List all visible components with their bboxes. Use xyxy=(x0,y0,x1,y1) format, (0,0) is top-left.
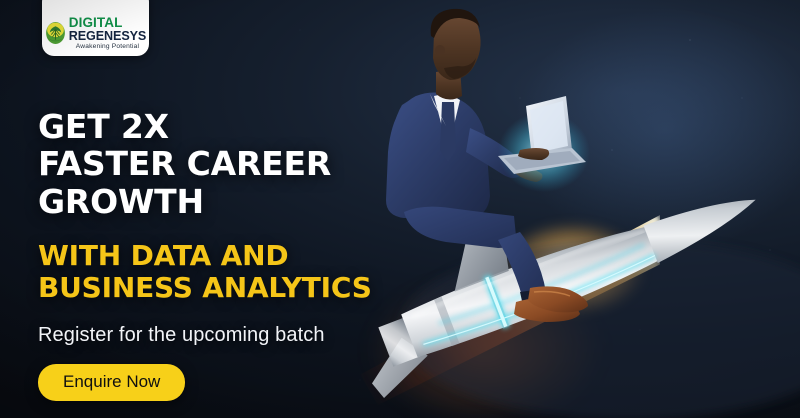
logo-text-primary: DIGITAL xyxy=(69,16,147,30)
laptop-graphic xyxy=(498,96,590,192)
promo-copy-block: GET 2X FASTER CAREER GROWTH WITH DATA AN… xyxy=(38,108,508,401)
subheadline: WITH DATA AND BUSINESS ANALYTICS xyxy=(38,240,508,305)
subheadline-line-1: WITH DATA AND xyxy=(38,240,508,272)
page-title: GET 2X FASTER CAREER GROWTH xyxy=(38,108,508,220)
body-text: Register for the upcoming batch xyxy=(38,324,508,347)
promo-banner: DIGITAL REGENESYS Awakening Potential GE… xyxy=(0,0,800,418)
tree-circle-icon xyxy=(45,21,66,45)
logo-tagline: Awakening Potential xyxy=(69,44,147,51)
subheadline-line-2: BUSINESS ANALYTICS xyxy=(38,272,508,304)
logo-text-secondary: REGENESYS xyxy=(69,30,147,43)
headline-line-1: GET 2X xyxy=(38,107,169,146)
headline-line-2: FASTER CAREER GROWTH xyxy=(38,145,508,220)
enquire-now-button[interactable]: Enquire Now xyxy=(38,364,185,401)
brand-logo-card[interactable]: DIGITAL REGENESYS Awakening Potential xyxy=(42,0,149,56)
